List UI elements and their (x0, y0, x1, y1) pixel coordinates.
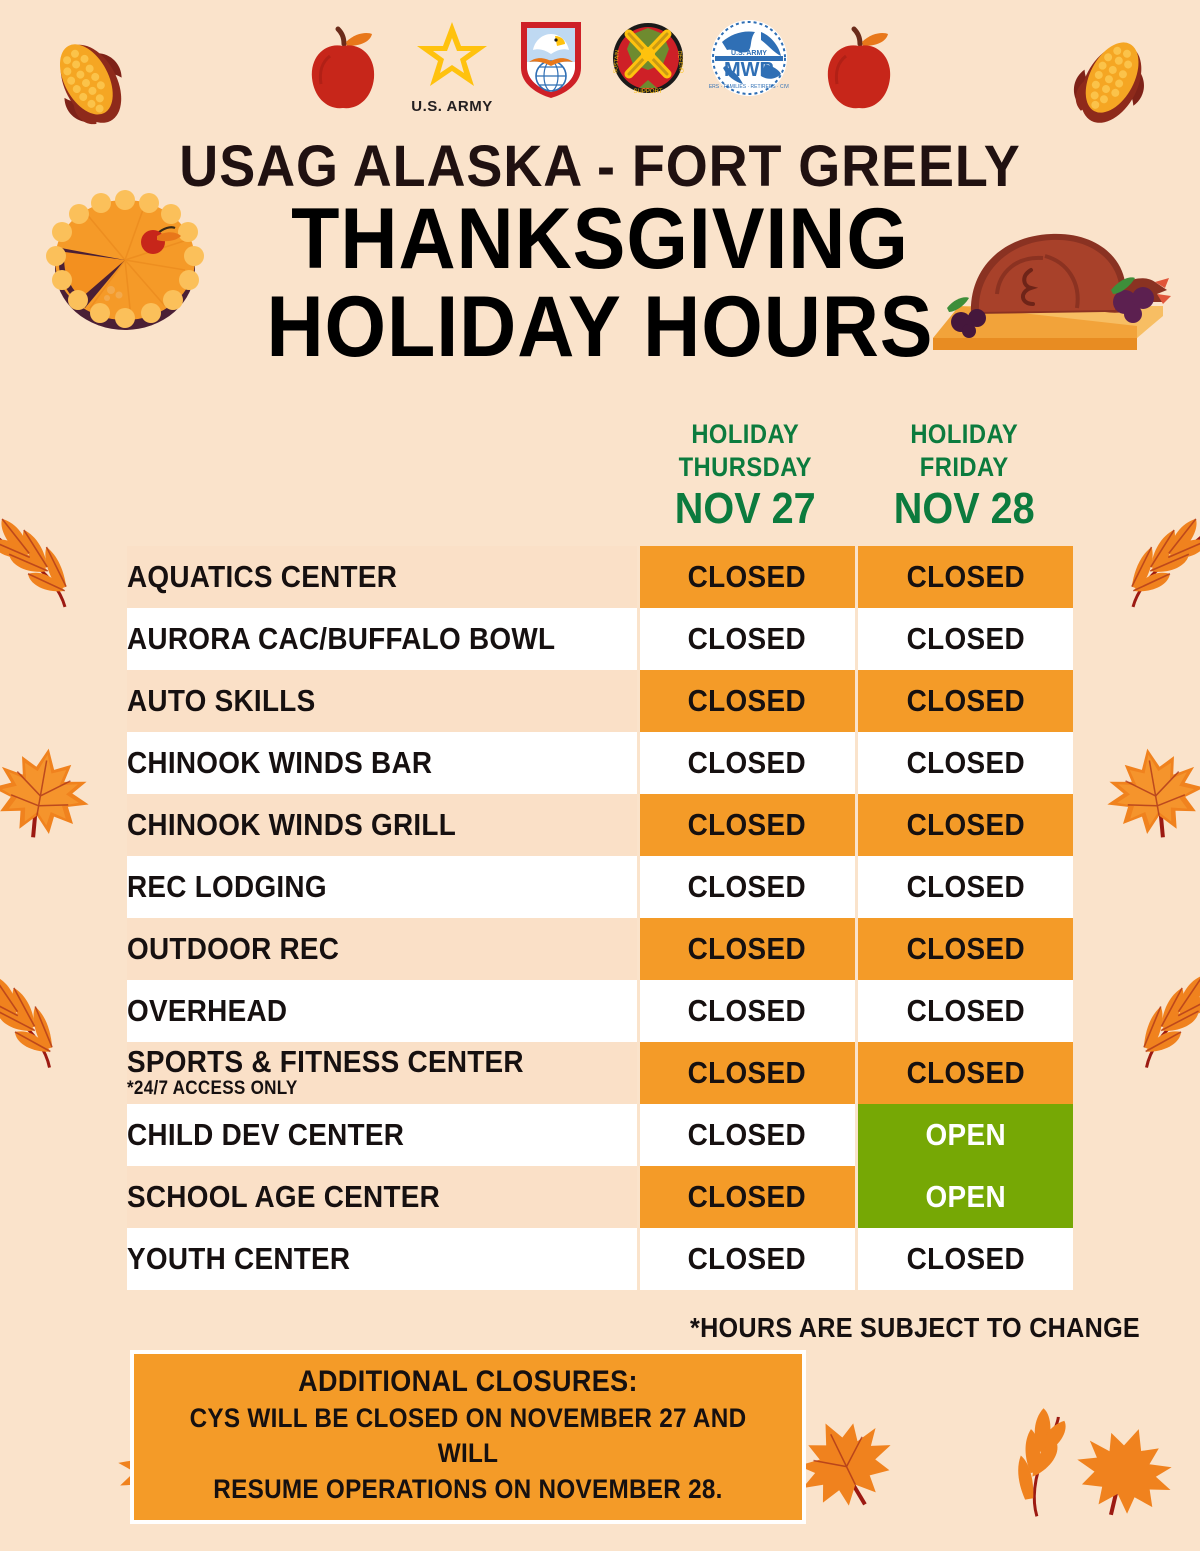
maple-leaf-illustration (1056, 1405, 1193, 1539)
service-name-cell: OUTDOOR REC (127, 918, 637, 980)
status-cell-thursday: CLOSED (637, 1042, 855, 1104)
status-badge: CLOSED (906, 869, 1024, 905)
service-name: OVERHEAD (127, 995, 586, 1028)
status-badge: OPEN (925, 1179, 1006, 1215)
service-name-cell: REC LODGING (127, 856, 637, 918)
status-cell-thursday: CLOSED (637, 608, 855, 670)
status-badge: CLOSED (688, 993, 806, 1029)
status-cell-friday: CLOSED (855, 1042, 1073, 1104)
leaf-branch-illustration (0, 492, 121, 623)
status-badge: OPEN (925, 1117, 1006, 1153)
additional-closures-box: ADDITIONAL CLOSURES: CYS WILL BE CLOSED … (130, 1350, 806, 1524)
thursday-kicker: HOLIDAY (649, 418, 841, 451)
day-column-headers: HOLIDAY THURSDAY NOV 27 HOLIDAY FRIDAY N… (636, 418, 1073, 533)
svg-text:SUPPORT: SUPPORT (633, 89, 662, 95)
table-row: AURORA CAC/BUFFALO BOWLCLOSEDCLOSED (127, 608, 1073, 670)
title-block: USAG ALASKA - FORT GREELY THANKSGIVING H… (0, 138, 1200, 371)
table-row: SPORTS & FITNESS CENTER*24/7 ACCESS ONLY… (127, 1042, 1073, 1104)
friday-kicker: HOLIDAY (868, 418, 1060, 451)
army-sustain-support-defend-crest-logo: SUPPORT SUSTAIN DEFEND (609, 18, 687, 98)
service-note: *24/7 ACCESS ONLY (127, 1079, 586, 1100)
status-badge: CLOSED (688, 1179, 806, 1215)
service-name: REC LODGING (127, 871, 586, 904)
table-row: REC LODGINGCLOSEDCLOSED (127, 856, 1073, 918)
table-row: AUTO SKILLSCLOSEDCLOSED (127, 670, 1073, 732)
army-mwr-globe-logo: U.S. ARMY MWR SOLDIERS · FAMILIES · RETI… (709, 18, 789, 98)
page-title-line-2: HOLIDAY HOURS (48, 284, 1152, 372)
table-row: CHINOOK WINDS GRILLCLOSEDCLOSED (127, 794, 1073, 856)
status-badge: CLOSED (906, 1241, 1024, 1277)
leaf-branch-illustration (942, 1392, 1098, 1546)
maple-leaf-illustration (0, 731, 104, 854)
status-badge: CLOSED (906, 931, 1024, 967)
leaf-branch-illustration (1090, 956, 1200, 1079)
column-header-friday: HOLIDAY FRIDAY NOV 28 (855, 418, 1074, 533)
table-row: CHINOOK WINDS BARCLOSEDCLOSED (127, 732, 1073, 794)
status-cell-thursday: CLOSED (637, 1166, 855, 1228)
leaf-branch-illustration (1077, 492, 1200, 623)
holiday-hours-body: AQUATICS CENTERCLOSEDCLOSEDAURORA CAC/BU… (127, 546, 1073, 1290)
thursday-date: NOV 27 (647, 484, 844, 533)
additional-closures-title: ADDITIONAL CLOSURES: (176, 1363, 759, 1401)
friday-weekday: FRIDAY (868, 451, 1060, 484)
status-badge: CLOSED (688, 559, 806, 595)
status-cell-friday: CLOSED (855, 1228, 1073, 1290)
service-name: SPORTS & FITNESS CENTER (127, 1046, 586, 1079)
status-badge: CLOSED (688, 1117, 806, 1153)
status-badge: CLOSED (906, 621, 1024, 657)
status-badge: CLOSED (688, 1241, 806, 1277)
service-name-cell: SPORTS & FITNESS CENTER*24/7 ACCESS ONLY (127, 1042, 637, 1104)
status-cell-friday: OPEN (855, 1104, 1073, 1166)
status-cell-friday: CLOSED (855, 980, 1073, 1042)
us-army-caption: U.S. ARMY (411, 98, 492, 115)
svg-text:U.S. ARMY: U.S. ARMY (731, 50, 767, 57)
status-cell-thursday: CLOSED (637, 1228, 855, 1290)
holiday-hours-table: AQUATICS CENTERCLOSEDCLOSEDAURORA CAC/BU… (127, 546, 1073, 1290)
status-badge: CLOSED (906, 683, 1024, 719)
status-cell-friday: CLOSED (855, 918, 1073, 980)
status-badge: CLOSED (688, 683, 806, 719)
service-name: YOUTH CENTER (127, 1243, 586, 1276)
additional-closures-line-2: RESUME OPERATIONS ON NOVEMBER 28. (176, 1472, 759, 1508)
status-badge: CLOSED (688, 807, 806, 843)
table-row: SCHOOL AGE CENTERCLOSEDOPEN (127, 1166, 1073, 1228)
service-name: AURORA CAC/BUFFALO BOWL (127, 623, 586, 656)
logo-row: U.S. ARMY SUPPORT SUST (0, 18, 1200, 115)
status-cell-friday: CLOSED (855, 670, 1073, 732)
status-badge: CLOSED (906, 1055, 1024, 1091)
service-name-cell: OVERHEAD (127, 980, 637, 1042)
thursday-weekday: THURSDAY (649, 451, 841, 484)
status-cell-friday: CLOSED (855, 856, 1073, 918)
status-badge: CLOSED (688, 621, 806, 657)
table-row: OUTDOOR RECCLOSEDCLOSED (127, 918, 1073, 980)
service-name-cell: AQUATICS CENTER (127, 546, 637, 608)
installation-name: USAG ALASKA - FORT GREELY (42, 138, 1158, 196)
service-name-cell: AUTO SKILLS (127, 670, 637, 732)
service-name-cell: YOUTH CENTER (127, 1228, 637, 1290)
svg-text:SOLDIERS · FAMILIES · RETIREES: SOLDIERS · FAMILIES · RETIREES · CIVILIA… (709, 84, 789, 90)
column-header-thursday: HOLIDAY THURSDAY NOV 27 (636, 418, 855, 533)
leaf-branch-illustration (0, 956, 106, 1079)
table-row: YOUTH CENTERCLOSEDCLOSED (127, 1228, 1073, 1290)
us-army-star-logo: U.S. ARMY (411, 18, 492, 115)
status-badge: CLOSED (688, 869, 806, 905)
service-name-cell: CHINOOK WINDS GRILL (127, 794, 637, 856)
status-cell-thursday: CLOSED (637, 980, 855, 1042)
status-badge: CLOSED (688, 931, 806, 967)
status-cell-thursday: CLOSED (637, 918, 855, 980)
imcom-eagle-shield-logo (515, 18, 587, 100)
table-row: OVERHEADCLOSEDCLOSED (127, 980, 1073, 1042)
service-name: SCHOOL AGE CENTER (127, 1181, 586, 1214)
service-name-cell: SCHOOL AGE CENTER (127, 1166, 637, 1228)
service-name-cell: CHILD DEV CENTER (127, 1104, 637, 1166)
status-badge: CLOSED (906, 559, 1024, 595)
status-cell-thursday: CLOSED (637, 1104, 855, 1166)
table-row: CHILD DEV CENTERCLOSEDOPEN (127, 1104, 1073, 1166)
service-name: CHILD DEV CENTER (127, 1119, 586, 1152)
status-cell-thursday: CLOSED (637, 670, 855, 732)
status-cell-friday: OPEN (855, 1166, 1073, 1228)
service-name-cell: CHINOOK WINDS BAR (127, 732, 637, 794)
status-cell-thursday: CLOSED (637, 794, 855, 856)
status-badge: CLOSED (906, 807, 1024, 843)
status-cell-thursday: CLOSED (637, 856, 855, 918)
status-cell-friday: CLOSED (855, 794, 1073, 856)
status-cell-friday: CLOSED (855, 546, 1073, 608)
service-name-cell: AURORA CAC/BUFFALO BOWL (127, 608, 637, 670)
hours-subject-to-change-note: *HOURS ARE SUBJECT TO CHANGE (0, 1312, 1140, 1344)
table-row: AQUATICS CENTERCLOSEDCLOSED (127, 546, 1073, 608)
status-badge: CLOSED (906, 993, 1024, 1029)
status-cell-thursday: CLOSED (637, 732, 855, 794)
maple-leaf-illustration (1092, 731, 1200, 854)
friday-date: NOV 28 (865, 484, 1062, 533)
status-cell-friday: CLOSED (855, 608, 1073, 670)
status-badge: CLOSED (688, 1055, 806, 1091)
status-badge: CLOSED (688, 745, 806, 781)
service-name: AUTO SKILLS (127, 685, 586, 718)
service-name: CHINOOK WINDS GRILL (127, 809, 586, 842)
page-title-line-1: THANKSGIVING (48, 196, 1152, 284)
service-name: AQUATICS CENTER (127, 561, 586, 594)
svg-text:MWR: MWR (724, 59, 775, 81)
status-cell-thursday: CLOSED (637, 546, 855, 608)
service-name: CHINOOK WINDS BAR (127, 747, 586, 780)
service-name: OUTDOOR REC (127, 933, 586, 966)
status-badge: CLOSED (906, 745, 1024, 781)
status-cell-friday: CLOSED (855, 732, 1073, 794)
additional-closures-line-1: CYS WILL BE CLOSED ON NOVEMBER 27 AND WI… (176, 1401, 759, 1472)
